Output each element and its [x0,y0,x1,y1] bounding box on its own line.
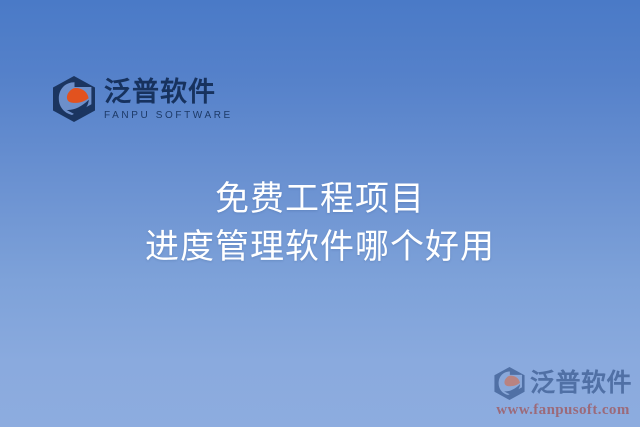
brand-lockup: 泛普软件 FANPU SOFTWARE [53,76,233,122]
headline-line-2: 进度管理软件哪个好用 [0,224,640,272]
watermark-logo-row: 泛普软件 [494,367,632,400]
brand-name-cn: 泛普软件 [104,78,233,106]
brand-text: 泛普软件 FANPU SOFTWARE [104,76,233,121]
watermark-url: www.fanpusoft.com [496,402,629,419]
headline-line-1: 免费工程项目 [0,176,640,224]
headline: 免费工程项目 进度管理软件哪个好用 [0,176,640,272]
watermark-name-cn: 泛普软件 [530,371,632,396]
fanpu-logo-icon [53,76,95,122]
watermark-fanpu-logo-icon [494,367,525,400]
brand-name-en: FANPU SOFTWARE [104,110,233,122]
promo-banner: 泛普软件 FANPU SOFTWARE 免费工程项目 进度管理软件哪个好用 泛普… [0,0,640,427]
watermark: 泛普软件 www.fanpusoft.com [494,367,632,419]
